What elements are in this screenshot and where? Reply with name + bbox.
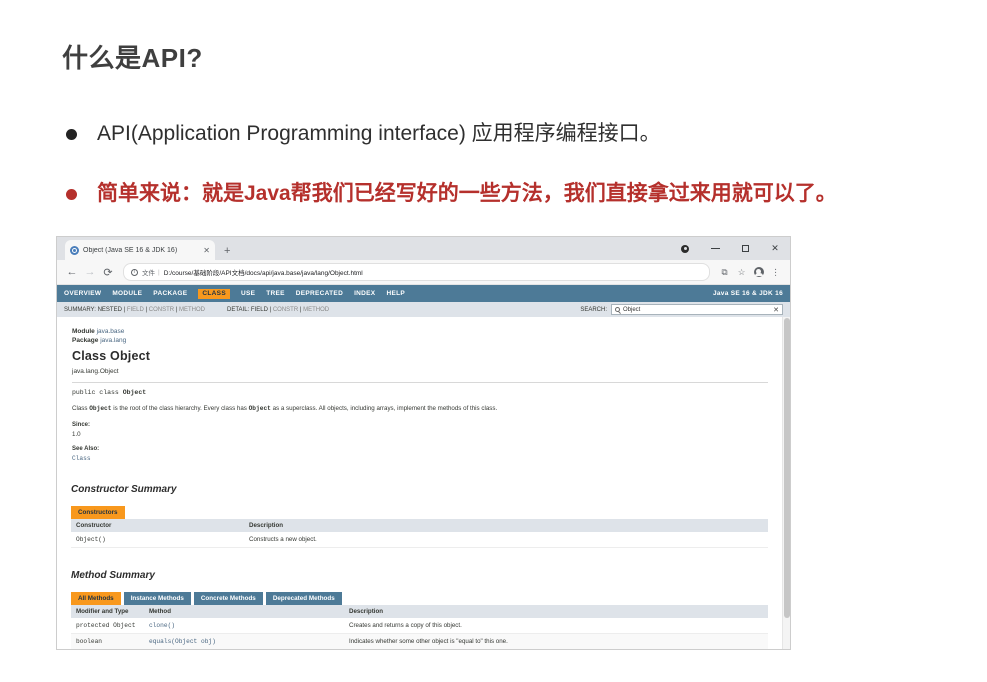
desc-mid: is the root of the class hierarchy. Ever… <box>111 405 248 412</box>
table-row: protected Object clone() Creates and ret… <box>71 618 768 634</box>
nav-item-deprecated[interactable]: DEPRECATED <box>296 290 343 297</box>
tab-all-methods[interactable]: All Methods <box>71 592 121 605</box>
col-description: Description <box>249 522 768 529</box>
bullet-text-1: API(Application Programming interface) 应… <box>97 120 661 148</box>
method-tab-row: All Methods Instance Methods Concrete Me… <box>71 592 790 605</box>
method-table: Modifier and Type Method Description pro… <box>71 605 768 650</box>
bullet-item-1: API(Application Programming interface) 应… <box>66 120 661 148</box>
table-header-row: Modifier and Type Method Description <box>71 605 768 618</box>
javadoc-sub-nav: SUMMARY: NESTED | FIELD | CONSTR | METHO… <box>57 302 790 317</box>
bullet-dot-icon <box>66 129 77 140</box>
summary-label: SUMMARY: <box>64 307 96 313</box>
tab-constructors[interactable]: Constructors <box>71 506 125 519</box>
forward-button[interactable]: → <box>81 266 99 278</box>
cell-method[interactable]: clone() <box>149 622 349 629</box>
install-app-icon[interactable]: ⧉ <box>716 264 733 281</box>
bookmark-star-icon[interactable]: ☆ <box>733 264 750 281</box>
table-header-row: Constructor Description <box>71 519 768 532</box>
table-row: boolean equals(Object obj) Indicates whe… <box>71 634 768 650</box>
bullet-dot-icon <box>66 189 77 200</box>
page-title: 什么是API? <box>62 38 203 75</box>
nav-item-overview[interactable]: OVERVIEW <box>64 290 101 297</box>
search-label: SEARCH: <box>580 307 607 313</box>
cell-description: Creates and returns a copy of this objec… <box>349 622 768 629</box>
nav-item-use[interactable]: USE <box>241 290 255 297</box>
module-line: Module java.base <box>72 327 768 336</box>
summary-item-field[interactable]: FIELD <box>127 307 144 313</box>
browser-tab[interactable]: Object (Java SE 16 & JDK 16) ✕ <box>65 240 215 260</box>
package-label: Package <box>72 337 98 344</box>
nav-item-module[interactable]: MODULE <box>112 290 142 297</box>
nav-item-class[interactable]: CLASS <box>198 289 230 299</box>
cell-description: Constructs a new object. <box>249 536 768 543</box>
tab-deprecated-methods[interactable]: Deprecated Methods <box>266 592 342 605</box>
search-input[interactable]: Object ✕ <box>611 304 783 315</box>
cell-method[interactable]: equals(Object obj) <box>149 638 349 645</box>
constructor-table: Constructor Description Object() Constru… <box>71 519 768 548</box>
record-indicator-icon[interactable] <box>670 237 700 260</box>
detail-item-constr[interactable]: CONSTR <box>273 307 298 313</box>
tab-title: Object (Java SE 16 & JDK 16) <box>83 247 177 254</box>
divider <box>72 382 768 383</box>
cell-modifier: protected Object <box>71 622 149 629</box>
detail-nav: DETAIL: FIELD | CONSTR | METHOD <box>227 307 329 313</box>
browser-window: Object (Java SE 16 & JDK 16) ✕ + ✕ ← → ⟳… <box>56 236 791 650</box>
browser-menu-icon[interactable]: ⋮ <box>767 264 784 281</box>
window-controls: ✕ <box>670 237 790 260</box>
class-title: Class Object <box>72 349 768 363</box>
signature-prefix: public class <box>72 389 123 396</box>
constructor-summary-title: Constructor Summary <box>71 484 790 495</box>
java-release-label: Java SE 16 & JDK 16 <box>713 290 783 297</box>
method-summary-title: Method Summary <box>71 570 790 581</box>
maximize-button[interactable] <box>730 237 760 260</box>
scrollbar-thumb[interactable] <box>784 318 790 618</box>
search-value: Object <box>623 307 773 313</box>
profile-avatar-icon[interactable] <box>750 264 767 281</box>
class-fqn: java.lang.Object <box>72 368 768 375</box>
cell-description: Indicates whether some other object is "… <box>349 638 768 645</box>
package-value[interactable]: java.lang <box>100 337 126 344</box>
desc-code-2: Object <box>249 405 271 412</box>
nav-item-help[interactable]: HELP <box>386 290 405 297</box>
col-description: Description <box>349 608 768 615</box>
col-constructor: Constructor <box>71 522 249 529</box>
reload-button[interactable]: ⟳ <box>99 266 117 279</box>
back-button[interactable]: ← <box>63 266 81 278</box>
page-info-icon[interactable] <box>131 269 138 276</box>
address-bar[interactable]: 文件 | D:/course/基础阶段/API文档/docs/api/java.… <box>123 263 710 281</box>
package-line: Package java.lang <box>72 336 768 345</box>
browser-toolbar: ← → ⟳ 文件 | D:/course/基础阶段/API文档/docs/api… <box>57 260 790 285</box>
desc-pre: Class <box>72 405 89 412</box>
since-value: 1.0 <box>72 431 768 438</box>
javadoc-content: Module java.base Package java.lang Class… <box>57 317 790 650</box>
url-text: D:/course/基础阶段/API文档/docs/api/java.base/… <box>164 267 363 277</box>
summary-item-method[interactable]: METHOD <box>179 307 205 313</box>
constructor-tab-row: Constructors <box>71 506 790 519</box>
javadoc-top-nav: OVERVIEW MODULE PACKAGE CLASS USE TREE D… <box>57 285 790 302</box>
class-description: Class Object is the root of the class hi… <box>72 404 768 414</box>
tab-instance-methods[interactable]: Instance Methods <box>124 592 191 605</box>
class-signature: public class Object <box>72 389 768 396</box>
detail-item-method[interactable]: METHOD <box>303 307 329 313</box>
table-row: Object() Constructs a new object. <box>71 532 768 548</box>
detail-item-field[interactable]: FIELD <box>251 307 268 313</box>
search-icon <box>615 307 620 312</box>
favicon-icon <box>70 246 79 255</box>
new-tab-button[interactable]: + <box>224 247 230 256</box>
nav-item-package[interactable]: PACKAGE <box>153 290 187 297</box>
col-modifier-and-type: Modifier and Type <box>71 608 149 615</box>
url-separator: | <box>158 269 160 276</box>
detail-label: DETAIL: <box>227 307 249 313</box>
tab-concrete-methods[interactable]: Concrete Methods <box>194 592 263 605</box>
col-method: Method <box>149 608 349 615</box>
see-also-label: See Also: <box>72 446 768 452</box>
nav-item-tree[interactable]: TREE <box>266 290 285 297</box>
desc-code-1: Object <box>89 405 111 412</box>
module-label: Module <box>72 328 95 335</box>
cell-constructor[interactable]: Object() <box>71 536 249 543</box>
summary-nav: SUMMARY: NESTED | FIELD | CONSTR | METHO… <box>64 307 205 313</box>
desc-post: as a superclass. All objects, including … <box>271 405 497 412</box>
cell-modifier: boolean <box>71 638 149 645</box>
browser-tab-strip: Object (Java SE 16 & JDK 16) ✕ + ✕ <box>57 237 790 260</box>
search-area: SEARCH: Object ✕ <box>580 304 783 315</box>
bullet-text-2: 简单来说：就是Java帮我们已经写好的一些方法，我们直接拿过来用就可以了。 <box>97 180 837 208</box>
url-scheme-label: 文件 <box>142 267 155 277</box>
summary-item-constr[interactable]: CONSTR <box>149 307 174 313</box>
signature-name: Object <box>123 389 146 396</box>
bullet-item-2: 简单来说：就是Java帮我们已经写好的一些方法，我们直接拿过来用就可以了。 <box>66 180 837 208</box>
vertical-scrollbar[interactable]: ▲ ▼ <box>782 317 790 650</box>
module-value[interactable]: java.base <box>97 328 125 335</box>
summary-item-nested[interactable]: NESTED <box>98 307 122 313</box>
see-also-value[interactable]: Class <box>72 455 768 462</box>
since-label: Since: <box>72 422 768 428</box>
close-tab-icon[interactable]: ✕ <box>197 246 210 255</box>
nav-item-index[interactable]: INDEX <box>354 290 375 297</box>
clear-search-icon[interactable]: ✕ <box>773 306 779 314</box>
close-window-button[interactable]: ✕ <box>760 237 790 260</box>
minimize-button[interactable] <box>700 237 730 260</box>
